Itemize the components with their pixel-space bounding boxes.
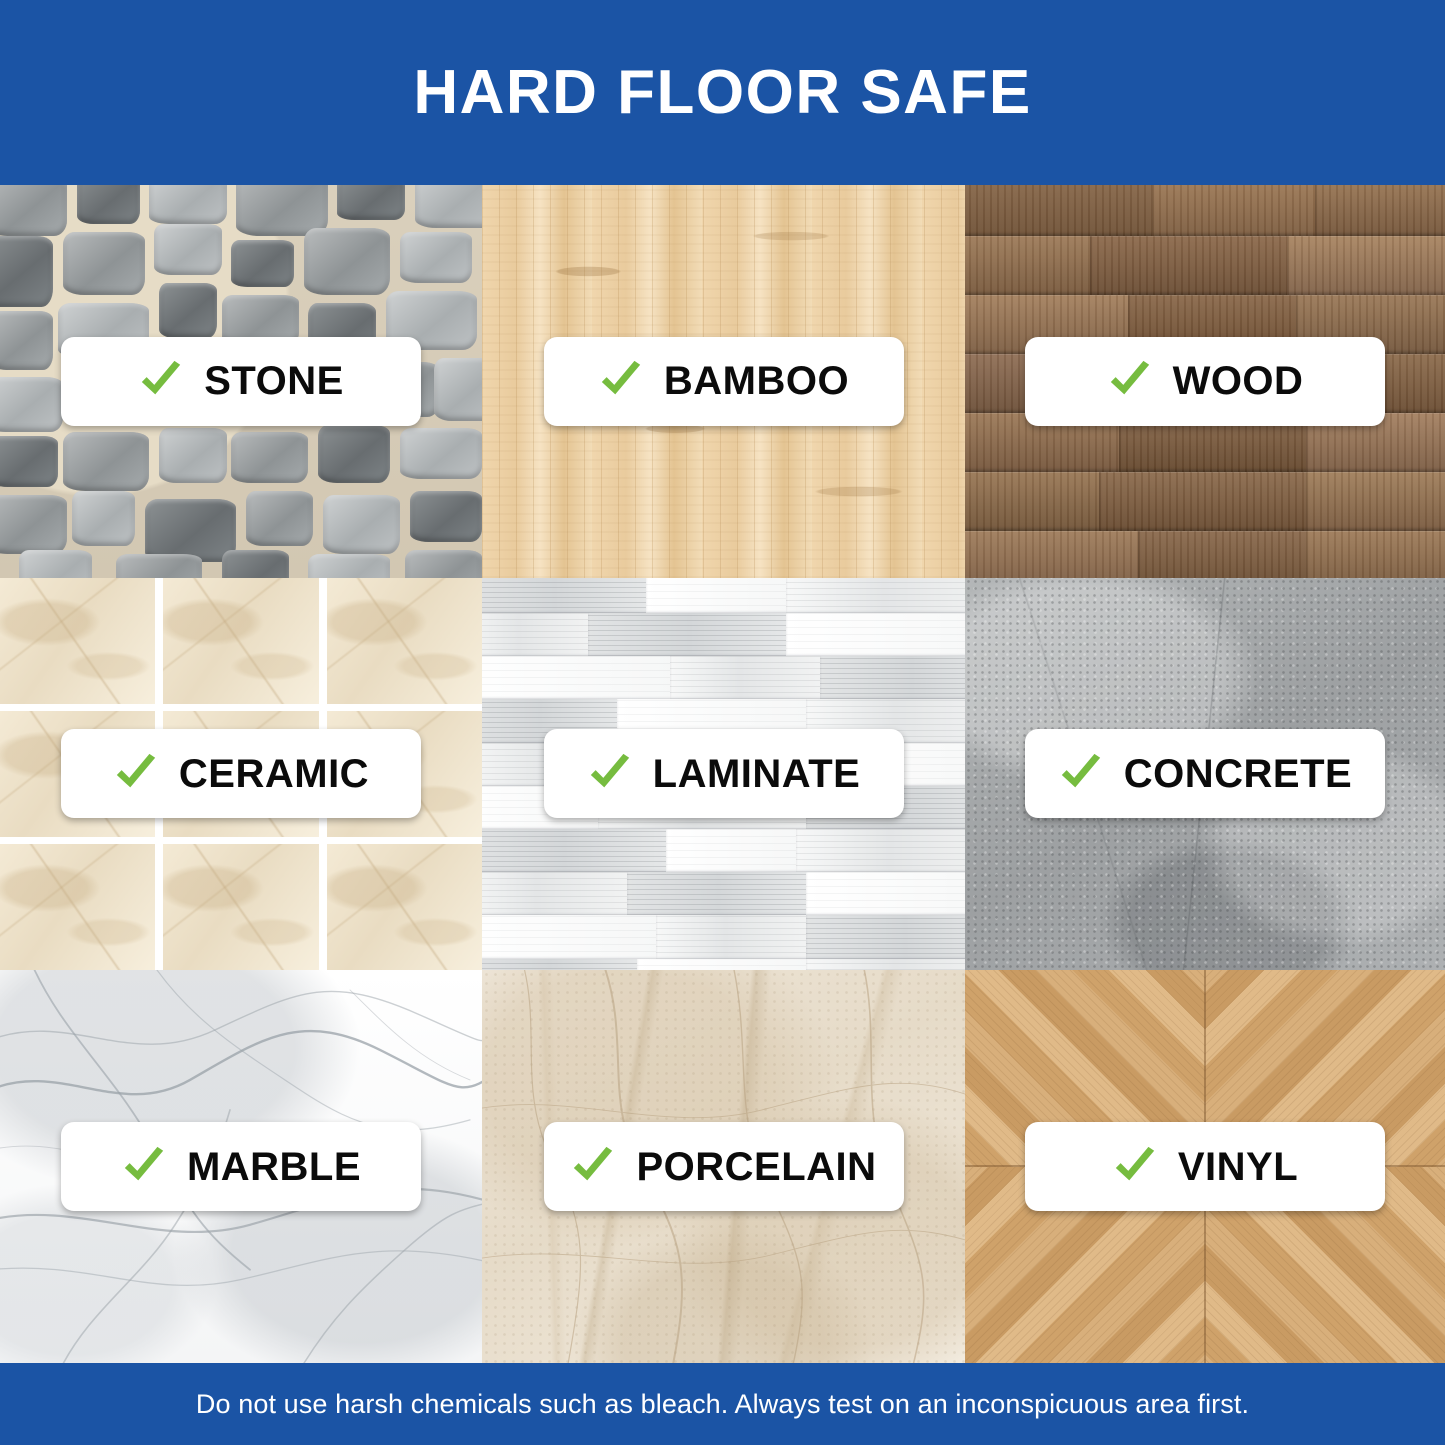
surface-label-text: LAMINATE	[653, 754, 861, 794]
surface-label-vinyl[interactable]: VINYL	[1025, 1122, 1385, 1211]
header-banner: HARD FLOOR SAFE	[0, 0, 1445, 185]
surface-label-ceramic[interactable]: CERAMIC	[61, 729, 421, 818]
grid-cell-stone[interactable]: STONE	[0, 185, 482, 578]
surface-label-text: STONE	[204, 361, 344, 401]
grid-cell-bamboo[interactable]: BAMBOO	[482, 185, 965, 578]
hard-floor-safe-infographic: HARD FLOOR SAFE	[0, 0, 1445, 1445]
grid-cell-porcelain[interactable]: PORCELAIN	[482, 970, 965, 1363]
grid-cell-concrete[interactable]: CONCRETE	[965, 578, 1445, 971]
check-icon	[570, 1144, 616, 1190]
surface-label-text: BAMBOO	[664, 361, 849, 401]
grid-cell-wood[interactable]: WOOD	[965, 185, 1445, 578]
surface-label-laminate[interactable]: LAMINATE	[544, 729, 904, 818]
check-icon	[138, 358, 184, 404]
surface-label-text: MARBLE	[187, 1147, 361, 1187]
check-icon	[1112, 1144, 1158, 1190]
check-icon	[1107, 358, 1153, 404]
surface-label-text: CERAMIC	[179, 754, 369, 794]
surface-label-stone[interactable]: STONE	[61, 337, 421, 426]
grid-cell-vinyl[interactable]: VINYL	[965, 970, 1445, 1363]
check-icon	[113, 751, 159, 797]
grid-cell-ceramic[interactable]: CERAMIC	[0, 578, 482, 971]
check-icon	[598, 358, 644, 404]
surface-label-text: WOOD	[1173, 361, 1304, 401]
surface-label-wood[interactable]: WOOD	[1025, 337, 1385, 426]
grid-cell-marble[interactable]: MARBLE	[0, 970, 482, 1363]
footer-banner: Do not use harsh chemicals such as bleac…	[0, 1363, 1445, 1445]
page-title: HARD FLOOR SAFE	[413, 62, 1031, 124]
grid-cell-laminate[interactable]: LAMINATE	[482, 578, 965, 971]
surface-label-concrete[interactable]: CONCRETE	[1025, 729, 1385, 818]
surface-label-text: VINYL	[1178, 1147, 1298, 1187]
surface-label-marble[interactable]: MARBLE	[61, 1122, 421, 1211]
check-icon	[1058, 751, 1104, 797]
check-icon	[587, 751, 633, 797]
footer-disclaimer: Do not use harsh chemicals such as bleac…	[196, 1389, 1249, 1420]
surface-label-porcelain[interactable]: PORCELAIN	[544, 1122, 904, 1211]
surface-grid: STONE BAMBOO	[0, 185, 1445, 1363]
check-icon	[121, 1144, 167, 1190]
surface-label-text: PORCELAIN	[636, 1147, 876, 1187]
surface-label-text: CONCRETE	[1124, 754, 1352, 794]
surface-label-bamboo[interactable]: BAMBOO	[544, 337, 904, 426]
